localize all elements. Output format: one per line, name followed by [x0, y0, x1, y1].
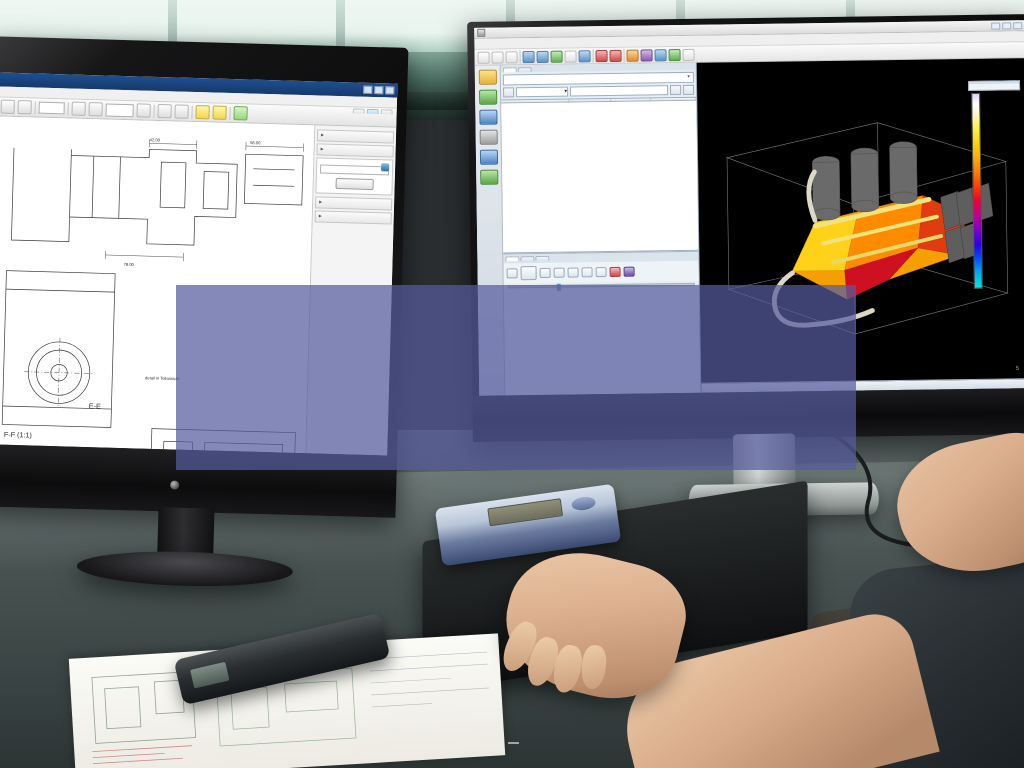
svg-text:56.00: 56.00: [250, 140, 261, 145]
stop-button-icon[interactable]: [507, 268, 518, 278]
legend-bar-row: [971, 92, 1020, 289]
toolbar-separator: [229, 106, 230, 119]
rotate-icon[interactable]: [523, 51, 535, 63]
window-buttons[interactable]: [363, 86, 397, 95]
select-icon[interactable]: [564, 50, 576, 62]
packard-bell-mark-icon: [170, 480, 179, 489]
clip-plane-icon[interactable]: [595, 50, 607, 62]
open-file-icon[interactable]: [0, 100, 14, 114]
results-filter-row[interactable]: ▾: [503, 85, 694, 98]
section-label-ee: E-E: [89, 402, 101, 410]
results-path-field[interactable]: ▾: [503, 72, 694, 86]
apply-filter-icon[interactable]: [670, 85, 681, 95]
results-module-icon[interactable]: [479, 150, 497, 165]
settings-icon[interactable]: [682, 48, 694, 60]
page-number-input[interactable]: [39, 102, 65, 115]
chevron-down-icon[interactable]: ▾: [564, 87, 567, 97]
zoom-out-icon[interactable]: [71, 102, 85, 116]
toolbar-separator: [153, 104, 154, 117]
accordion-store-files[interactable]: [315, 210, 392, 224]
temperature-legend: [971, 84, 1020, 289]
animation-controls[interactable]: [503, 261, 698, 284]
tab-sign[interactable]: [367, 109, 379, 114]
pause-button-icon[interactable]: [540, 268, 551, 278]
pan-icon[interactable]: [537, 50, 549, 62]
packard-bell-logo: [170, 480, 183, 489]
finger: [580, 644, 608, 690]
clear-filter-icon[interactable]: [683, 85, 694, 95]
measure-icon[interactable]: [609, 49, 621, 61]
maximize-icon[interactable]: [1002, 22, 1011, 29]
email-icon[interactable]: [174, 104, 188, 118]
step-back-icon[interactable]: [554, 268, 565, 278]
loop-icon[interactable]: [624, 267, 635, 277]
tab-animation[interactable]: [505, 256, 519, 261]
results-tabrow[interactable]: [501, 63, 696, 73]
adobe-pdf-pack-card: [315, 157, 393, 195]
close-icon[interactable]: [1013, 22, 1022, 29]
zoom-level-input[interactable]: [105, 103, 133, 117]
screenshot-root: E-E F-F (1:1) 42.00 56.00 78.00 detail i…: [0, 0, 1024, 768]
minimize-icon[interactable]: [991, 22, 1000, 29]
simulation-module-icon[interactable]: [479, 130, 497, 145]
card-title: [320, 162, 389, 164]
zoom-dropdown-icon[interactable]: [136, 103, 150, 117]
save-icon[interactable]: [157, 104, 171, 118]
tab-tools[interactable]: [353, 108, 365, 113]
accordion-create-pdf[interactable]: [316, 143, 393, 157]
maximize-icon[interactable]: [374, 86, 383, 94]
select-file-input[interactable]: [320, 165, 389, 176]
mesh-module-icon[interactable]: [479, 90, 497, 105]
open-project-icon[interactable]: [492, 51, 504, 63]
window-buttons[interactable]: [991, 22, 1024, 29]
toolbar-separator: [191, 105, 192, 118]
definition-module-icon[interactable]: [479, 110, 497, 125]
phone-display: [190, 662, 229, 689]
legend-icon[interactable]: [640, 49, 652, 61]
zoom-fit-icon[interactable]: [550, 50, 562, 62]
minimize-icon[interactable]: [363, 86, 372, 94]
mesh-icon[interactable]: [626, 49, 638, 61]
filter-field-select[interactable]: ▾: [516, 87, 568, 98]
accordion-send-files[interactable]: [315, 196, 392, 210]
tab-comment[interactable]: [381, 109, 393, 114]
select-file-button[interactable]: [335, 178, 373, 190]
simulation-control-panel[interactable]: [968, 80, 1020, 91]
adobe-badge-icon: [381, 163, 389, 171]
toolbar-separator: [34, 101, 35, 114]
adobe-reader-tabs[interactable]: [353, 108, 393, 114]
export-icon[interactable]: [668, 48, 680, 60]
save-icon[interactable]: [506, 51, 518, 63]
toolbar-separator: [592, 49, 593, 62]
sticky-note-icon[interactable]: [212, 105, 226, 119]
section-view-icon[interactable]: [578, 50, 590, 62]
headline-overlay-banner: [176, 285, 856, 470]
brand-underline-rule: [508, 742, 519, 744]
svg-text:detail in Teilansicht: detail in Teilansicht: [145, 375, 180, 381]
new-project-icon[interactable]: [478, 51, 490, 63]
play-button-icon[interactable]: [521, 266, 537, 280]
toolbar-separator: [519, 50, 520, 63]
step-forward-icon[interactable]: [568, 267, 579, 277]
app-icon: [477, 29, 485, 37]
print-icon[interactable]: [17, 100, 31, 114]
tab-general-tools[interactable]: [520, 256, 534, 261]
filter-text-input[interactable]: [570, 85, 668, 96]
optimization-module-icon[interactable]: [480, 170, 498, 185]
last-frame-icon[interactable]: [596, 267, 607, 277]
simulation-control-result[interactable]: [969, 83, 1019, 90]
accordion-export-pdf[interactable]: [317, 129, 394, 143]
filter-folder-icon[interactable]: [503, 87, 514, 97]
record-icon[interactable]: [610, 267, 621, 277]
first-frame-icon[interactable]: [582, 267, 593, 277]
highlight-icon[interactable]: [195, 105, 209, 119]
geometry-module-icon[interactable]: [478, 70, 496, 85]
tab-results[interactable]: [503, 67, 517, 72]
tab-result[interactable]: [535, 256, 549, 261]
calculator-cursor-pad[interactable]: [571, 495, 597, 511]
chevron-down-icon[interactable]: ▾: [687, 72, 693, 83]
results-tree[interactable]: [501, 101, 698, 254]
probe-icon[interactable]: [654, 49, 666, 61]
magma-watermark-logo: 5: [1016, 363, 1021, 378]
svg-text:78.00: 78.00: [124, 262, 135, 267]
toolbar-separator: [67, 102, 68, 115]
close-icon[interactable]: [385, 86, 394, 94]
toolbar-separator: [623, 49, 624, 62]
zoom-in-icon[interactable]: [88, 102, 102, 116]
svg-text:42.00: 42.00: [150, 137, 161, 142]
tab-materials[interactable]: [518, 67, 532, 72]
section-label-ff: F-F (1:1): [4, 431, 32, 440]
sign-icon[interactable]: [233, 106, 247, 120]
